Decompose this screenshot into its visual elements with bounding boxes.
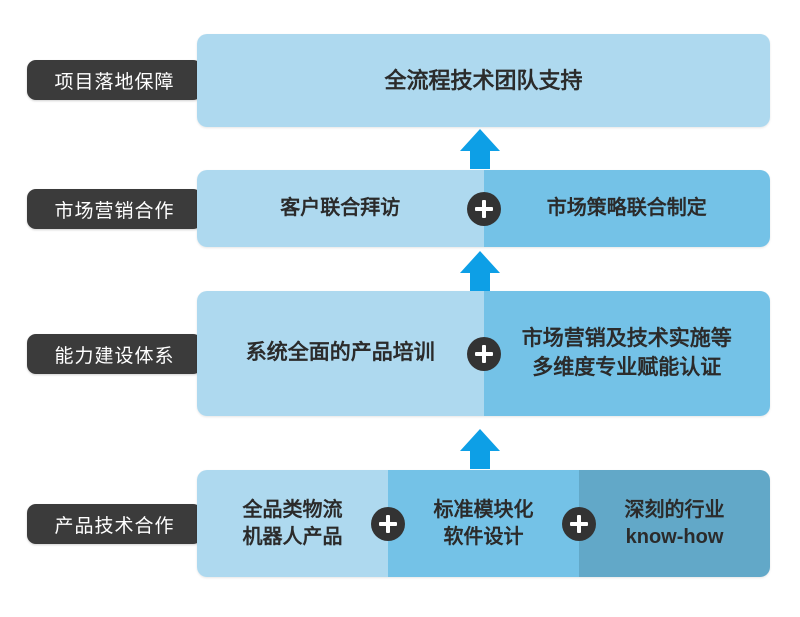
stage-panel-capability-building: 系统全面的产品培训 市场营销及技术实施等 多维度专业赋能认证 [197, 291, 770, 416]
capability-pyramid-diagram: 项目落地保障 全流程技术团队支持 市场营销合作 客户联合拜访 市场策略联合制定 … [0, 0, 800, 617]
stage-panel-marketing-cooperation: 客户联合拜访 市场策略联合制定 [197, 170, 770, 247]
plus-icon-stage3-b [562, 507, 596, 541]
stage-panel-product-technology-cooperation: 全品类物流 机器人产品 标准模块化 软件设计 深刻的行业 know-how [197, 470, 770, 577]
stage-label-product-technology-cooperation: 产品技术合作 [27, 504, 202, 544]
stage-segment-multidimensional-certification: 市场营销及技术实施等 多维度专业赋能认证 [484, 291, 771, 416]
stage-segment-logistics-robot-products: 全品类物流 机器人产品 [197, 470, 388, 577]
stage-segment-full-process-support: 全流程技术团队支持 [197, 34, 770, 127]
stage-segment-industry-know-how: 深刻的行业 know-how [579, 470, 770, 577]
stage-label-capability-building: 能力建设体系 [27, 334, 202, 374]
plus-icon-stage2 [467, 337, 501, 371]
plus-icon-stage3-a [371, 507, 405, 541]
stage-segment-modular-software-design: 标准模块化 软件设计 [388, 470, 579, 577]
stage-label-marketing-cooperation: 市场营销合作 [27, 189, 202, 229]
arrow-up-to-capability-building [458, 427, 502, 476]
plus-icon-stage1 [467, 192, 501, 226]
stage-segment-joint-market-strategy: 市场策略联合制定 [484, 170, 771, 247]
arrow-up-to-marketing-cooperation [458, 249, 502, 298]
arrow-up-to-project-implementation [458, 127, 502, 176]
stage-segment-product-training: 系统全面的产品培训 [197, 291, 484, 416]
stage-segment-joint-customer-visit: 客户联合拜访 [197, 170, 484, 247]
stage-label-project-implementation: 项目落地保障 [27, 60, 202, 100]
stage-panel-project-implementation: 全流程技术团队支持 [197, 34, 770, 127]
